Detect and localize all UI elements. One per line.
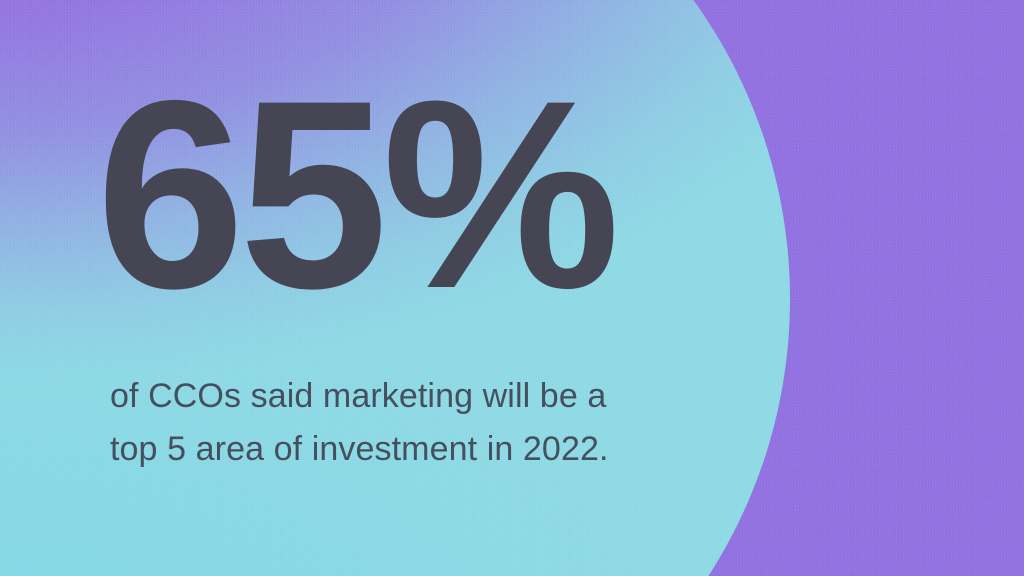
slide-content: 65% of CCOs said marketing will be a top… [0, 0, 1024, 576]
stat-headline: 65% [96, 60, 614, 328]
stat-description: of CCOs said marketing will be a top 5 a… [110, 370, 750, 476]
stat-slide: 65% of CCOs said marketing will be a top… [0, 0, 1024, 576]
stat-description-line-1: of CCOs said marketing will be a [110, 370, 750, 423]
stat-description-line-2: top 5 area of investment in 2022. [110, 423, 750, 476]
